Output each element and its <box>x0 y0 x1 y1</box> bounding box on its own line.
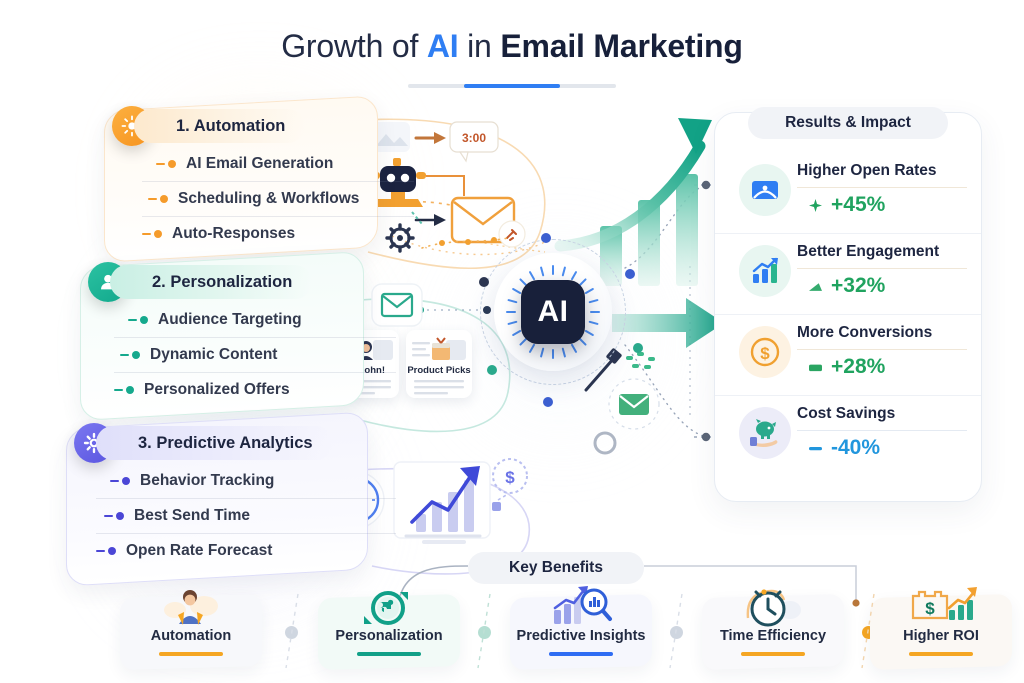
list-item[interactable]: Scheduling & Workflows <box>142 181 414 216</box>
bullet-dot <box>122 477 130 485</box>
growth-arrow-head <box>678 118 712 154</box>
list-item[interactable]: Best Send Time <box>96 498 396 533</box>
result-value-wrap: +45% <box>809 193 885 217</box>
title-ai: AI <box>427 28 459 64</box>
list-item-label: AI Email Generation <box>186 155 333 173</box>
benefit-underline <box>741 652 805 656</box>
list-item[interactable]: AI Email Generation <box>142 147 414 181</box>
benefit-connector-node <box>670 626 683 639</box>
bullet-dot <box>154 230 162 238</box>
bullet-dash <box>156 163 165 165</box>
sparkle-marker-icon <box>809 199 822 212</box>
growth-bar-3 <box>676 174 698 286</box>
benefit-label: Automation <box>120 628 262 644</box>
result-value-wrap: -40% <box>809 436 880 460</box>
list-item[interactable]: Open Rate Forecast <box>96 533 396 568</box>
key-benefits-row: Automation Personalization <box>120 588 910 674</box>
benefit-label: Higher ROI <box>870 628 1012 644</box>
bullet-dot <box>168 160 176 168</box>
list-item[interactable]: Behavior Tracking <box>96 464 396 498</box>
bullet-dot <box>160 195 168 203</box>
result-row-cost-savings[interactable]: Cost Savings -40% <box>715 395 981 476</box>
triangle-marker-icon <box>809 280 822 293</box>
page-title: Growth of AI in Email Marketing <box>0 28 1024 65</box>
chart-up-icon <box>739 245 791 297</box>
pillar-personalization[interactable]: 2. Personalization Audience Targeting Dy… <box>80 259 362 411</box>
pillar-predictive-analytics-heading: 3. Predictive Analytics <box>96 426 333 460</box>
svg-text:$: $ <box>760 344 770 363</box>
bullet-dash <box>148 198 157 200</box>
pillar-personalization-items: Audience Targeting Dynamic Content Perso… <box>80 303 396 407</box>
key-benefits-title: Key Benefits <box>468 552 644 584</box>
list-item[interactable]: Dynamic Content <box>114 337 396 372</box>
result-row-open-rates[interactable]: Higher Open Rates +45% <box>715 153 981 233</box>
chart-magnifier-icon <box>510 588 652 628</box>
bullet-dash <box>96 550 105 552</box>
ai-chip-label: AI <box>521 280 585 344</box>
growth-arrow-line <box>560 146 700 246</box>
bullet-dash <box>120 354 129 356</box>
dollar-circle-icon: $ <box>739 326 791 378</box>
result-label: More Conversions <box>797 324 973 342</box>
title-suffix: Email Marketing <box>500 28 742 64</box>
pillar-predictive-analytics-items: Behavior Tracking Best Send Time Open Ra… <box>66 464 396 568</box>
bullet-dot <box>108 547 116 555</box>
bullet-dot <box>126 386 134 394</box>
list-item[interactable]: Auto-Responses <box>142 216 414 251</box>
result-row-conversions[interactable]: $ More Conversions +28% <box>715 314 981 395</box>
pillar-automation-heading: 1. Automation <box>134 109 305 143</box>
clock-icon <box>702 588 844 628</box>
pillar-automation[interactable]: 1. Automation AI Email Generation Schedu… <box>104 103 376 253</box>
list-item-label: Best Send Time <box>134 507 250 525</box>
piggy-bank-hand-icon <box>739 407 791 459</box>
pillar-personalization-heading: 2. Personalization <box>110 265 312 299</box>
bullet-dot <box>140 316 148 324</box>
money-growth-icon: $ <box>870 588 1012 628</box>
result-value: +45% <box>831 193 885 217</box>
bullet-dot <box>116 512 124 520</box>
result-row-engagement[interactable]: Better Engagement +32% <box>715 233 981 314</box>
bullet-dash <box>110 480 119 482</box>
pillar-automation-items: AI Email Generation Scheduling & Workflo… <box>104 147 414 251</box>
benefit-underline <box>909 652 973 656</box>
pillar-predictive-analytics[interactable]: 3. Predictive Analytics Behavior Trackin… <box>66 420 366 576</box>
result-underline <box>797 430 967 431</box>
list-item[interactable]: Personalized Offers <box>114 372 396 407</box>
result-underline <box>797 187 967 188</box>
benefit-underline <box>159 652 223 656</box>
result-value-wrap: +32% <box>809 274 885 298</box>
title-divider <box>408 84 616 88</box>
results-panel: Higher Open Rates +45% <box>714 112 982 502</box>
bullet-dash <box>142 233 151 235</box>
benefit-connector-node <box>285 626 298 639</box>
list-item-label: Auto-Responses <box>172 225 295 243</box>
benefit-underline <box>357 652 421 656</box>
open-envelope-icon <box>739 164 791 216</box>
floating-envelope <box>608 378 660 430</box>
result-label: Cost Savings <box>797 405 973 423</box>
results-panel-title: Results & Impact <box>748 107 948 139</box>
title-prefix: Growth of <box>281 28 427 64</box>
benefit-connector-node <box>478 626 491 639</box>
bullet-dash <box>128 319 137 321</box>
svg-text:$: $ <box>505 468 515 487</box>
ring-accent <box>590 428 620 458</box>
title-mid: in <box>458 28 500 64</box>
list-item-label: Dynamic Content <box>150 346 277 364</box>
infographic-canvas: Growth of AI in Email Marketing <box>0 0 1024 683</box>
persona-card-2-label: Product Picks <box>406 365 472 376</box>
puzzle-arrows-icon <box>318 588 460 628</box>
bullet-dash <box>114 389 123 391</box>
square-marker-icon <box>809 361 822 374</box>
benefit-label: Predictive Insights <box>510 628 652 644</box>
result-label: Better Engagement <box>797 243 973 261</box>
result-value-wrap: +28% <box>809 355 885 379</box>
svg-text:$: $ <box>925 599 935 618</box>
list-item-label: Open Rate Forecast <box>126 542 272 560</box>
result-value: +28% <box>831 355 885 379</box>
bullet-dot <box>132 351 140 359</box>
results-list: Higher Open Rates +45% <box>715 153 981 476</box>
result-underline <box>797 268 967 269</box>
ai-hub[interactable]: AI <box>494 253 612 371</box>
result-value: -40% <box>831 436 880 460</box>
benefit-label: Personalization <box>318 628 460 644</box>
benefit-label: Time Efficiency <box>702 628 844 644</box>
result-label: Higher Open Rates <box>797 162 973 180</box>
result-value: +32% <box>831 274 885 298</box>
list-item-label: Behavior Tracking <box>140 472 274 490</box>
benefit-underline <box>549 652 613 656</box>
result-underline <box>797 349 967 350</box>
bullet-dash <box>104 515 113 517</box>
dash-marker-icon <box>809 442 822 455</box>
list-item-label: Audience Targeting <box>158 311 302 329</box>
growth-bar-2 <box>638 200 660 286</box>
person-cloud-icon <box>120 588 262 628</box>
scatter-accents <box>620 348 680 378</box>
list-item[interactable]: Audience Targeting <box>114 303 396 337</box>
persona-card-2: Product Picks <box>406 330 472 398</box>
list-item-label: Personalized Offers <box>144 381 290 399</box>
list-item-label: Scheduling & Workflows <box>178 190 359 208</box>
robot-bubble-text: 3:00 <box>462 131 486 145</box>
